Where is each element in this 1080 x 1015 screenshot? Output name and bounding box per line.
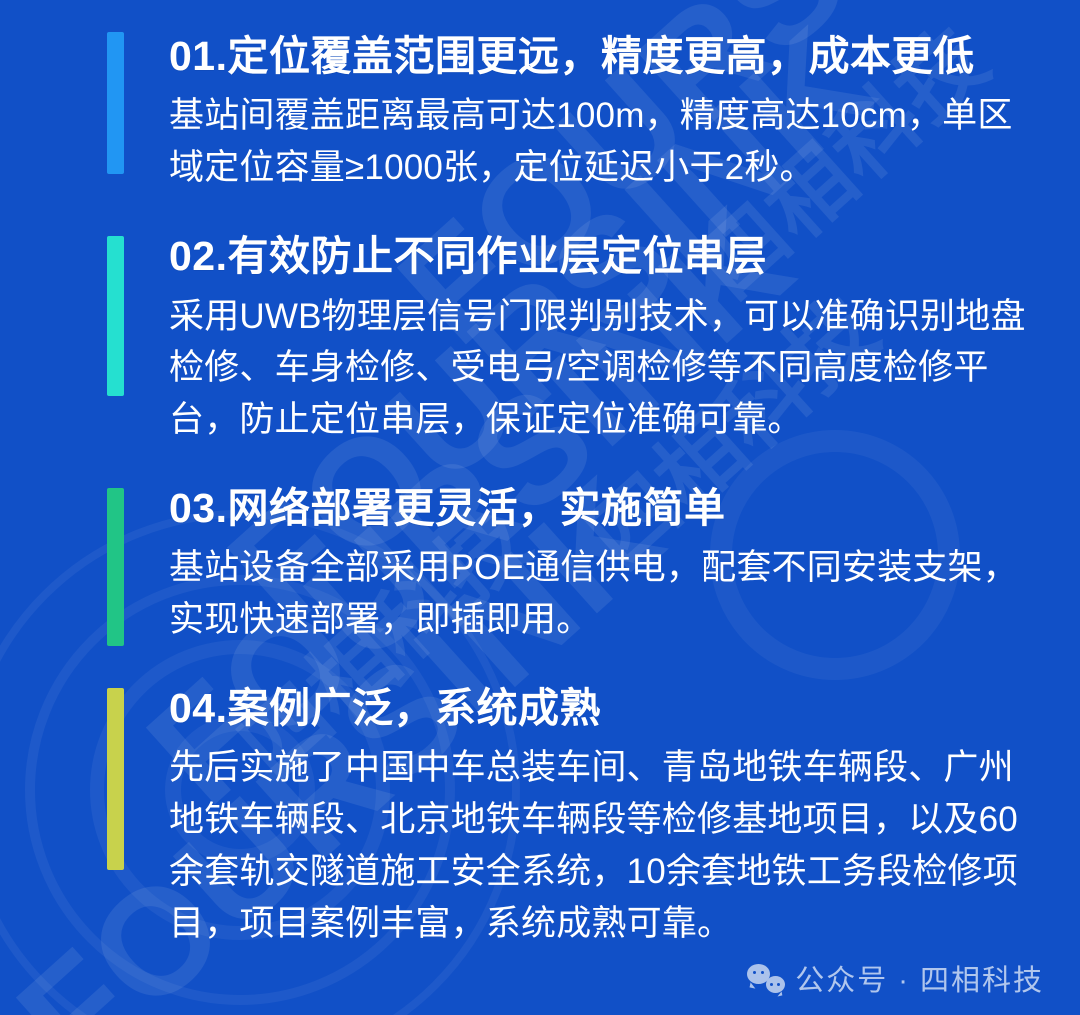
feature-body-04: 先后实施了中国中车总装车间、青岛地铁车辆段、广州地铁车辆段、北京地铁车辆段等检修… bbox=[169, 742, 1040, 949]
accent-bar-03 bbox=[107, 488, 124, 646]
feature-title-03: 03.网络部署更灵活，实施简单 bbox=[169, 482, 1040, 534]
footer-label: 公众号 · 四相科技 bbox=[795, 957, 1044, 999]
feature-item-04: 04.案例广泛，系统成熟 先后实施了中国中车总装车间、青岛地铁车辆段、广州地铁车… bbox=[107, 682, 1040, 950]
accent-bar-04 bbox=[107, 688, 124, 870]
accent-bar-02 bbox=[107, 236, 124, 396]
wechat-icon bbox=[747, 961, 785, 995]
feature-body-03: 基站设备全部采用POE通信供电，配套不同安装支架，实现快速部署，即插即用。 bbox=[169, 542, 1040, 646]
feature-item-01: 01.定位覆盖范围更远，精度更高，成本更低 基站间覆盖距离最高可达100m，精度… bbox=[107, 0, 1040, 194]
feature-body-01: 基站间覆盖距离最高可达100m，精度高达10cm，单区域定位容量≥1000张，定… bbox=[169, 90, 1040, 194]
feature-body-02: 采用UWB物理层信号门限判别技术，可以准确识别地盘检修、车身检修、受电弓/空调检… bbox=[169, 291, 1040, 446]
poster-root: FOURSINK FOURSINK FOURSINK FOURSINK 四相科技… bbox=[0, 0, 1080, 1015]
feature-title-04: 04.案例广泛，系统成熟 bbox=[169, 682, 1040, 734]
feature-title-01: 01.定位覆盖范围更远，精度更高，成本更低 bbox=[169, 30, 1040, 82]
feature-item-03: 03.网络部署更灵活，实施简单 基站设备全部采用POE通信供电，配套不同安装支架… bbox=[107, 482, 1040, 646]
feature-item-02: 02.有效防止不同作业层定位串层 采用UWB物理层信号门限判别技术，可以准确识别… bbox=[107, 230, 1040, 446]
accent-bar-01 bbox=[107, 32, 124, 174]
feature-title-02: 02.有效防止不同作业层定位串层 bbox=[169, 230, 1040, 282]
feature-list: 01.定位覆盖范围更远，精度更高，成本更低 基站间覆盖距离最高可达100m，精度… bbox=[0, 0, 1080, 950]
footer-credit: 公众号 · 四相科技 bbox=[747, 957, 1044, 999]
